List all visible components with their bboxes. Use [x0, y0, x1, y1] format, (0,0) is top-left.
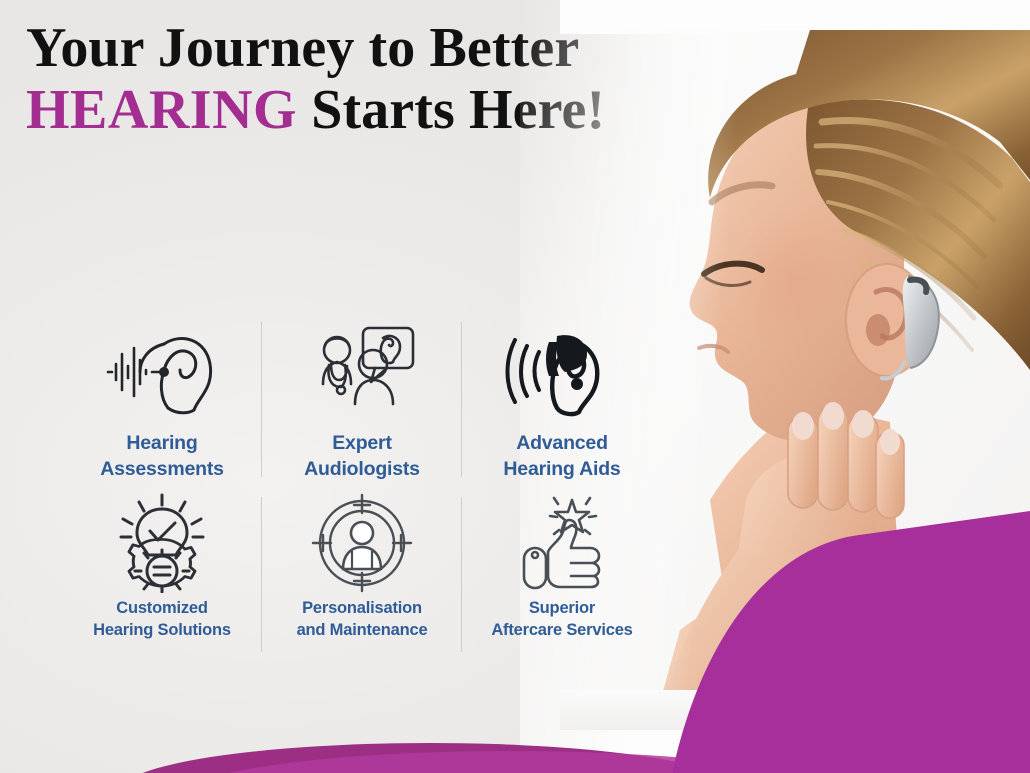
audiologist-patient-speechbubble-icon: [301, 318, 423, 426]
feature-label: Personalisation and Maintenance: [297, 597, 428, 641]
feature-superior-aftercare-services[interactable]: Superior Aftercare Services: [462, 487, 662, 662]
ear-soundwave-icon: [102, 318, 222, 426]
feature-label: Hearing Assessments: [100, 430, 224, 482]
feature-label: Advanced Hearing Aids: [503, 430, 620, 482]
photo-top-white-band: [560, 0, 1030, 34]
features-grid: Hearing Assessments: [62, 312, 662, 662]
feature-hearing-assessments[interactable]: Hearing Assessments: [62, 312, 262, 487]
feature-advanced-hearing-aids[interactable]: Advanced Hearing Aids: [462, 312, 662, 487]
feature-personalisation-and-maintenance[interactable]: Personalisation and Maintenance: [262, 487, 462, 662]
thumbs-up-star-icon: [510, 493, 614, 593]
person-crosshair-target-icon: [311, 493, 413, 593]
feature-customized-hearing-solutions[interactable]: Customized Hearing Solutions: [62, 487, 262, 662]
feature-label: Superior Aftercare Services: [491, 597, 632, 641]
feature-expert-audiologists[interactable]: Expert Audiologists: [262, 312, 462, 487]
feature-label: Expert Audiologists: [304, 430, 420, 482]
headline-accent-word: HEARING: [26, 79, 297, 141]
hearing-care-promo-banner: Your Journey to Better HEARING Starts He…: [0, 0, 1030, 773]
ear-hearing-aid-waves-icon: [503, 318, 621, 426]
feature-label: Customized Hearing Solutions: [93, 597, 231, 641]
lightbulb-check-gear-icon: [109, 493, 215, 593]
headline-line-1: Your Journey to Better: [26, 17, 579, 79]
